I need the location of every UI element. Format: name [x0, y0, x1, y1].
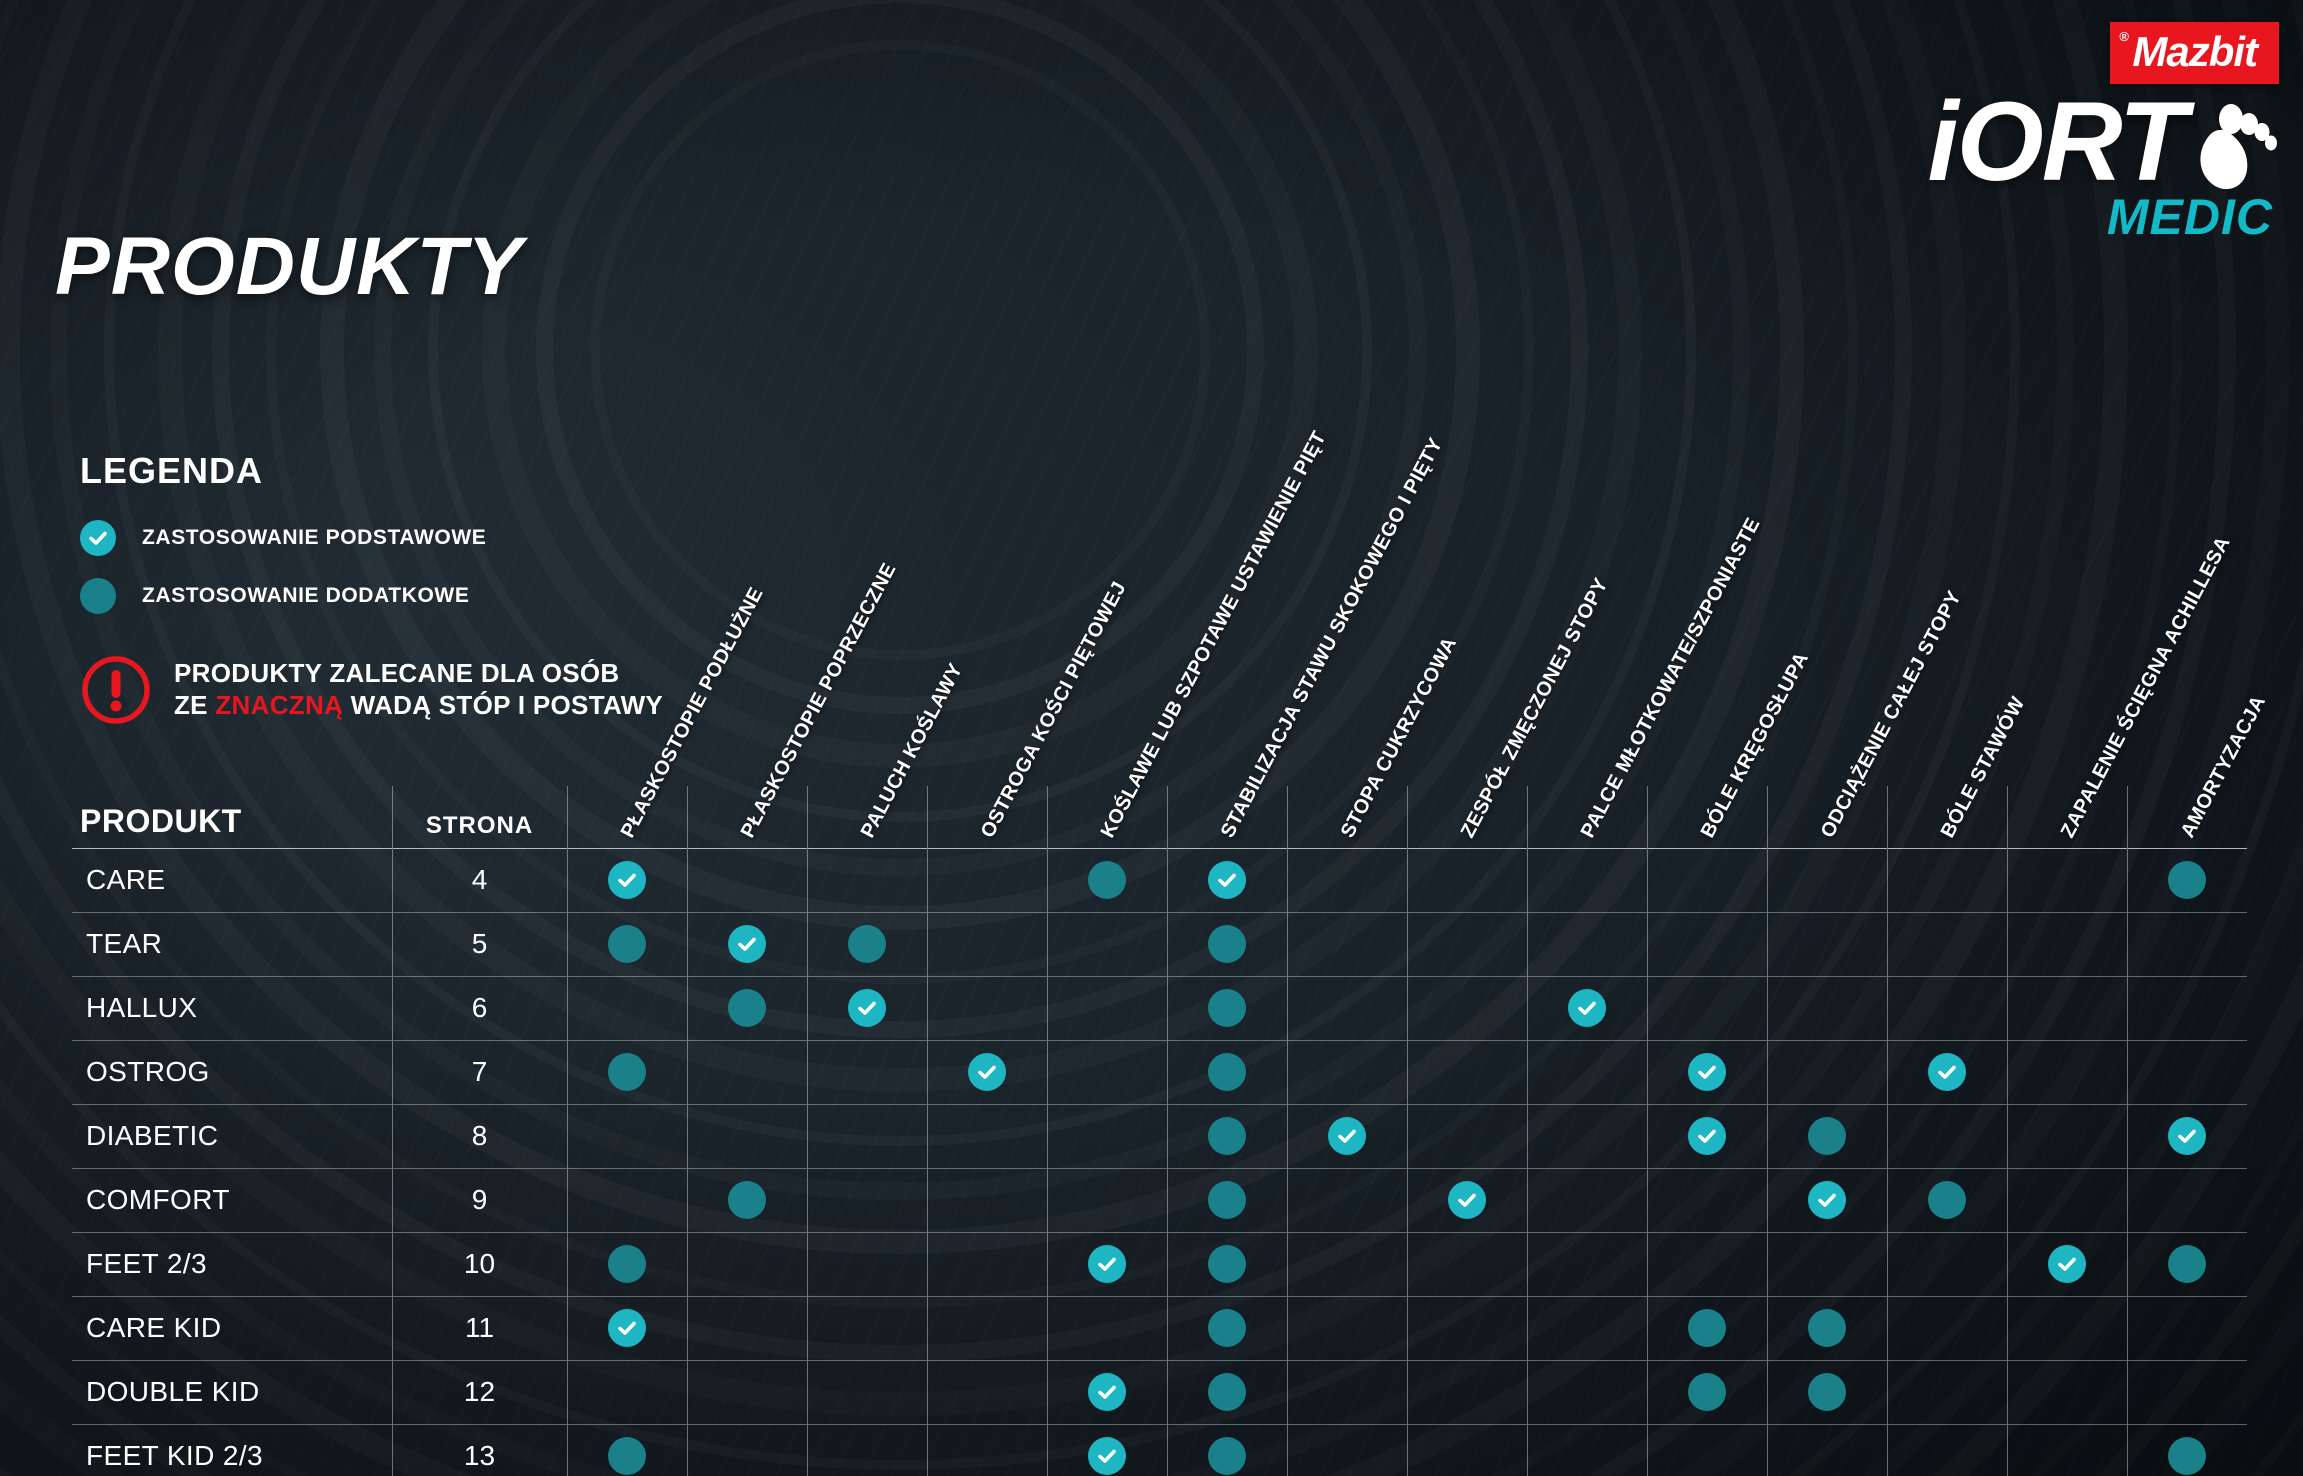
warning-line-2-post: WADĄ STÓP I POSTAWY	[343, 690, 663, 720]
matrix-cell	[1047, 912, 1167, 976]
secondary-dot-icon	[1688, 1309, 1726, 1347]
matrix-cell	[1167, 1424, 1287, 1476]
col-header-13: ZAPALENIE ŚCIĘGNA ACHILLESA	[2007, 786, 2127, 848]
primary-check-icon	[848, 989, 886, 1027]
matrix-cell	[687, 1232, 807, 1296]
matrix-cell	[1407, 1168, 1527, 1232]
matrix-cell	[1047, 1040, 1167, 1104]
secondary-dot-icon	[1208, 1437, 1246, 1475]
primary-check-icon	[1568, 989, 1606, 1027]
secondary-dot-icon	[1208, 1117, 1246, 1155]
matrix-cell	[2127, 1232, 2247, 1296]
matrix-cell	[927, 1360, 1047, 1424]
page-title: PRODUKTY	[55, 220, 523, 314]
matrix-cell	[567, 976, 687, 1040]
matrix-cell	[1527, 1360, 1647, 1424]
matrix-cell	[2007, 912, 2127, 976]
page-number-cell: 7	[392, 1040, 567, 1104]
matrix-cell	[927, 1168, 1047, 1232]
matrix-cell	[1767, 912, 1887, 976]
secondary-dot-icon	[1928, 1181, 1966, 1219]
matrix-cell	[2007, 1360, 2127, 1424]
matrix-cell	[567, 1296, 687, 1360]
matrix-cell	[1047, 1104, 1167, 1168]
matrix-cell	[1407, 1424, 1527, 1476]
matrix-cell	[2127, 912, 2247, 976]
matrix-cell	[687, 976, 807, 1040]
page-number-cell: 4	[392, 848, 567, 912]
matrix-cell	[1287, 1168, 1407, 1232]
matrix-cell	[1887, 1040, 2007, 1104]
matrix-cell	[2007, 1424, 2127, 1476]
secondary-dot-icon	[1208, 989, 1246, 1027]
product-name-cell: DOUBLE KID	[72, 1360, 392, 1424]
legend-heading: LEGENDA	[80, 450, 800, 492]
matrix-cell	[1647, 1296, 1767, 1360]
table-row[interactable]: DOUBLE KID12	[72, 1360, 2247, 1424]
matrix-cell	[1407, 976, 1527, 1040]
matrix-cell	[1767, 1232, 1887, 1296]
matrix-cell	[807, 1168, 927, 1232]
primary-check-icon	[1088, 1437, 1126, 1475]
secondary-dot-icon	[1208, 925, 1246, 963]
warning-emphasis: ZNACZNĄ	[215, 690, 343, 720]
product-name-cell: CARE KID	[72, 1296, 392, 1360]
matrix-cell	[1647, 976, 1767, 1040]
registered-mark: ®	[2119, 29, 2128, 44]
primary-check-icon	[1928, 1053, 1966, 1091]
matrix-cell	[1287, 1040, 1407, 1104]
matrix-cell	[927, 976, 1047, 1040]
matrix-cell	[687, 1168, 807, 1232]
table-row[interactable]: FEET KID 2/313	[72, 1424, 2247, 1476]
matrix-cell	[567, 1040, 687, 1104]
matrix-cell	[1287, 1424, 1407, 1476]
secondary-dot-icon	[608, 925, 646, 963]
legend-item-primary: ZASTOSOWANIE PODSTAWOWE	[80, 520, 800, 556]
matrix-cell	[1767, 1360, 1887, 1424]
matrix-cell	[807, 1424, 927, 1476]
secondary-dot-icon	[80, 578, 116, 614]
matrix-cell	[1887, 1104, 2007, 1168]
matrix-cell	[2007, 848, 2127, 912]
secondary-dot-icon	[2168, 1437, 2206, 1475]
secondary-dot-icon	[1808, 1117, 1846, 1155]
page-number-cell: 9	[392, 1168, 567, 1232]
matrix-cell	[1887, 912, 2007, 976]
brand-logo: ®Mazbit iORT MEDIC	[1809, 22, 2279, 246]
matrix-cell	[1407, 1360, 1527, 1424]
matrix-cell	[2127, 848, 2247, 912]
warning-line-1: PRODUKTY ZALECANE DLA OSÓB	[174, 658, 619, 688]
product-name-cell: OSTROG	[72, 1040, 392, 1104]
matrix-cell	[2127, 1360, 2247, 1424]
product-name-cell: CARE	[72, 848, 392, 912]
matrix-cell	[1047, 976, 1167, 1040]
matrix-cell	[1527, 1232, 1647, 1296]
primary-check-icon	[1688, 1117, 1726, 1155]
primary-check-icon	[2048, 1245, 2086, 1283]
matrix-cell	[1047, 1168, 1167, 1232]
products-matrix-table: PRODUKT STRONA PŁASKOSTOPIE PODŁUŻNEPŁAS…	[72, 786, 2247, 1476]
matrix-cell	[807, 848, 927, 912]
col-header-1: PŁASKOSTOPIE PODŁUŻNE	[567, 786, 687, 848]
matrix-cell	[1767, 1168, 1887, 1232]
primary-check-icon	[2168, 1117, 2206, 1155]
matrix-cell	[1167, 1232, 1287, 1296]
matrix-cell	[2127, 1040, 2247, 1104]
primary-check-icon	[1208, 861, 1246, 899]
matrix-cell	[1527, 1104, 1647, 1168]
table-row[interactable]: OSTROG7	[72, 1040, 2247, 1104]
matrix-cell	[1527, 912, 1647, 976]
matrix-cell	[1287, 1104, 1407, 1168]
matrix-cell	[567, 1232, 687, 1296]
matrix-cell	[1527, 848, 1647, 912]
matrix-cell	[807, 1104, 927, 1168]
matrix-cell	[1767, 848, 1887, 912]
product-name-cell: FEET KID 2/3	[72, 1424, 392, 1476]
secondary-dot-icon	[848, 925, 886, 963]
legend-label-primary: ZASTOSOWANIE PODSTAWOWE	[142, 526, 486, 550]
matrix-cell	[1287, 1360, 1407, 1424]
matrix-cell	[1647, 912, 1767, 976]
primary-check-icon	[80, 520, 116, 556]
secondary-dot-icon	[1208, 1373, 1246, 1411]
primary-check-icon	[608, 1309, 646, 1347]
col-header-3: PALUCH KOŚLAWY	[807, 786, 927, 848]
product-name-cell: DIABETIC	[72, 1104, 392, 1168]
col-header-2: PŁASKOSTOPIE POPRZECZNE	[687, 786, 807, 848]
col-header-6: STABILIZACJA STAWU SKOKOWEGO I PIĘTY	[1167, 786, 1287, 848]
matrix-cell	[2127, 1424, 2247, 1476]
matrix-cell	[1167, 1168, 1287, 1232]
matrix-cell	[927, 1232, 1047, 1296]
primary-check-icon	[1688, 1053, 1726, 1091]
matrix-cell	[687, 1104, 807, 1168]
secondary-dot-icon	[2168, 861, 2206, 899]
footprint-icon	[2187, 98, 2279, 194]
matrix-cell	[567, 1168, 687, 1232]
matrix-cell	[1527, 1424, 1647, 1476]
secondary-dot-icon	[1688, 1373, 1726, 1411]
col-header-5: KOŚLAWE LUB SZPOTAWE USTAWIENIE PIĘT	[1047, 786, 1167, 848]
primary-check-icon	[608, 861, 646, 899]
matrix-cell	[2007, 1168, 2127, 1232]
matrix-cell	[1767, 1040, 1887, 1104]
col-header-12: BÓLE STAWÓW	[1887, 786, 2007, 848]
matrix-cell	[567, 1360, 687, 1424]
secondary-dot-icon	[1088, 861, 1126, 899]
primary-check-icon	[1328, 1117, 1366, 1155]
page-number-cell: 10	[392, 1232, 567, 1296]
product-name-cell: TEAR	[72, 912, 392, 976]
primary-check-icon	[1088, 1373, 1126, 1411]
page-number-cell: 12	[392, 1360, 567, 1424]
matrix-cell	[927, 1104, 1047, 1168]
primary-check-icon	[1448, 1181, 1486, 1219]
matrix-cell	[927, 1424, 1047, 1476]
matrix-cell	[1287, 912, 1407, 976]
mazbit-wordmark: Mazbit	[2132, 28, 2257, 75]
matrix-cell	[1287, 1296, 1407, 1360]
matrix-cell	[1647, 1040, 1767, 1104]
product-name-cell: COMFORT	[72, 1168, 392, 1232]
col-header-9: PALCE MŁOTKOWATE/SZPONIASTE	[1527, 786, 1647, 848]
matrix-cell	[1887, 848, 2007, 912]
matrix-cell	[1287, 1232, 1407, 1296]
secondary-dot-icon	[1208, 1053, 1246, 1091]
matrix-cell	[1167, 1104, 1287, 1168]
col-header-8: ZESPÓŁ ZMĘCZONEJ STOPY	[1407, 786, 1527, 848]
iorto-wordmark: iORT	[1809, 90, 2279, 194]
matrix-cell	[1047, 1424, 1167, 1476]
matrix-cell	[927, 1296, 1047, 1360]
matrix-cell	[1647, 848, 1767, 912]
matrix-cell	[2127, 1104, 2247, 1168]
matrix-grid: PRODUKT STRONA PŁASKOSTOPIE PODŁUŻNEPŁAS…	[72, 786, 2247, 1476]
secondary-dot-icon	[608, 1053, 646, 1091]
matrix-cell	[1407, 1104, 1527, 1168]
matrix-cell	[1047, 1232, 1167, 1296]
table-row[interactable]: CARE KID11	[72, 1296, 2247, 1360]
primary-check-icon	[728, 925, 766, 963]
matrix-cell	[1407, 1296, 1527, 1360]
matrix-cell	[687, 1040, 807, 1104]
matrix-cell	[807, 1360, 927, 1424]
secondary-dot-icon	[728, 989, 766, 1027]
matrix-cell	[687, 912, 807, 976]
matrix-cell	[1767, 976, 1887, 1040]
matrix-cell	[1767, 1424, 1887, 1476]
matrix-cell	[1767, 1104, 1887, 1168]
matrix-cell	[807, 976, 927, 1040]
table-row[interactable]: DIABETIC8	[72, 1104, 2247, 1168]
page-number-cell: 8	[392, 1104, 567, 1168]
matrix-cell	[567, 912, 687, 976]
matrix-cell	[1407, 1232, 1527, 1296]
matrix-cell	[1407, 912, 1527, 976]
matrix-cell	[687, 848, 807, 912]
matrix-cell	[1767, 1296, 1887, 1360]
exclamation-circle-icon	[80, 654, 152, 726]
secondary-dot-icon	[2168, 1245, 2206, 1283]
secondary-dot-icon	[1208, 1245, 1246, 1283]
table-header-row: PRODUKT STRONA PŁASKOSTOPIE PODŁUŻNEPŁAS…	[72, 786, 2247, 848]
matrix-cell	[1167, 1296, 1287, 1360]
matrix-cell	[1647, 1232, 1767, 1296]
warning-text: PRODUKTY ZALECANE DLA OSÓB ZE ZNACZNĄ WA…	[174, 658, 663, 721]
iorto-text: iORT	[1927, 79, 2185, 204]
matrix-cell	[1887, 1296, 2007, 1360]
matrix-cell	[2007, 976, 2127, 1040]
matrix-cell	[927, 1040, 1047, 1104]
matrix-cell	[807, 1232, 927, 1296]
matrix-cell	[687, 1296, 807, 1360]
secondary-dot-icon	[728, 1181, 766, 1219]
secondary-dot-icon	[1208, 1181, 1246, 1219]
matrix-cell	[927, 848, 1047, 912]
legend-label-secondary: ZASTOSOWANIE DODATKOWE	[142, 584, 469, 608]
col-header-4: OSTROGA KOŚCI PIĘTOWEJ	[927, 786, 1047, 848]
primary-check-icon	[968, 1053, 1006, 1091]
matrix-cell	[1167, 976, 1287, 1040]
matrix-cell	[1647, 1360, 1767, 1424]
matrix-cell	[1887, 1424, 2007, 1476]
secondary-dot-icon	[1808, 1373, 1846, 1411]
primary-check-icon	[1088, 1245, 1126, 1283]
matrix-cell	[1647, 1168, 1767, 1232]
col-header-product: PRODUKT	[72, 786, 392, 848]
matrix-cell	[1527, 1040, 1647, 1104]
col-header-10: BÓLE KRĘGOSŁUPA	[1647, 786, 1767, 848]
matrix-cell	[1647, 1424, 1767, 1476]
matrix-cell	[1167, 1360, 1287, 1424]
matrix-cell	[927, 912, 1047, 976]
legend: LEGENDA ZASTOSOWANIE PODSTAWOWE ZASTOSOW…	[80, 450, 800, 726]
secondary-dot-icon	[1208, 1309, 1246, 1347]
matrix-cell	[807, 1296, 927, 1360]
matrix-cell	[1887, 1232, 2007, 1296]
matrix-cell	[1527, 1296, 1647, 1360]
matrix-cell	[1287, 848, 1407, 912]
table-row[interactable]: FEET 2/310	[72, 1232, 2247, 1296]
table-row[interactable]: TEAR5	[72, 912, 2247, 976]
matrix-cell	[2127, 1168, 2247, 1232]
secondary-dot-icon	[1808, 1309, 1846, 1347]
primary-check-icon	[1808, 1181, 1846, 1219]
legend-item-secondary: ZASTOSOWANIE DODATKOWE	[80, 578, 800, 614]
matrix-cell	[1167, 848, 1287, 912]
matrix-cell	[567, 1104, 687, 1168]
matrix-cell	[2007, 1232, 2127, 1296]
matrix-cell	[1047, 848, 1167, 912]
matrix-cell	[1527, 976, 1647, 1040]
matrix-cell	[2007, 1296, 2127, 1360]
page-number-cell: 6	[392, 976, 567, 1040]
matrix-cell	[687, 1424, 807, 1476]
matrix-cell	[1887, 976, 2007, 1040]
matrix-cell	[1887, 1168, 2007, 1232]
matrix-cell	[1407, 848, 1527, 912]
matrix-cell	[1047, 1296, 1167, 1360]
table-row[interactable]: HALLUX6	[72, 976, 2247, 1040]
page-number-cell: 13	[392, 1424, 567, 1476]
page-number-cell: 11	[392, 1296, 567, 1360]
product-name-cell: FEET 2/3	[72, 1232, 392, 1296]
matrix-cell	[1887, 1360, 2007, 1424]
product-name-cell: HALLUX	[72, 976, 392, 1040]
col-header-11: ODCIĄŻENIE CAŁEJ STOPY	[1767, 786, 1887, 848]
warning-line-2-pre: ZE	[174, 690, 215, 720]
table-body: CARE4TEAR5HALLUX6OSTROG7DIABETIC8COMFORT…	[72, 848, 2247, 1476]
matrix-cell	[567, 848, 687, 912]
matrix-cell	[1287, 976, 1407, 1040]
secondary-dot-icon	[608, 1437, 646, 1475]
matrix-cell	[2007, 1104, 2127, 1168]
matrix-cell	[567, 1424, 687, 1476]
col-header-14: AMORTYZACJA	[2127, 786, 2247, 848]
matrix-cell	[2007, 1040, 2127, 1104]
col-header-page: STRONA	[392, 786, 567, 848]
matrix-cell	[1167, 1040, 1287, 1104]
matrix-cell	[1647, 1104, 1767, 1168]
table-row[interactable]: CARE4	[72, 848, 2247, 912]
matrix-cell	[1407, 1040, 1527, 1104]
matrix-cell	[1047, 1360, 1167, 1424]
matrix-cell	[1527, 1168, 1647, 1232]
table-row[interactable]: COMFORT9	[72, 1168, 2247, 1232]
matrix-cell	[807, 1040, 927, 1104]
matrix-cell	[2127, 1296, 2247, 1360]
mazbit-logo: ®Mazbit	[2110, 22, 2279, 84]
matrix-cell	[1167, 912, 1287, 976]
matrix-cell	[2127, 976, 2247, 1040]
page-number-cell: 5	[392, 912, 567, 976]
matrix-cell	[807, 912, 927, 976]
secondary-dot-icon	[608, 1245, 646, 1283]
matrix-cell	[687, 1360, 807, 1424]
col-header-7: STOPA CUKRZYCOWA	[1287, 786, 1407, 848]
